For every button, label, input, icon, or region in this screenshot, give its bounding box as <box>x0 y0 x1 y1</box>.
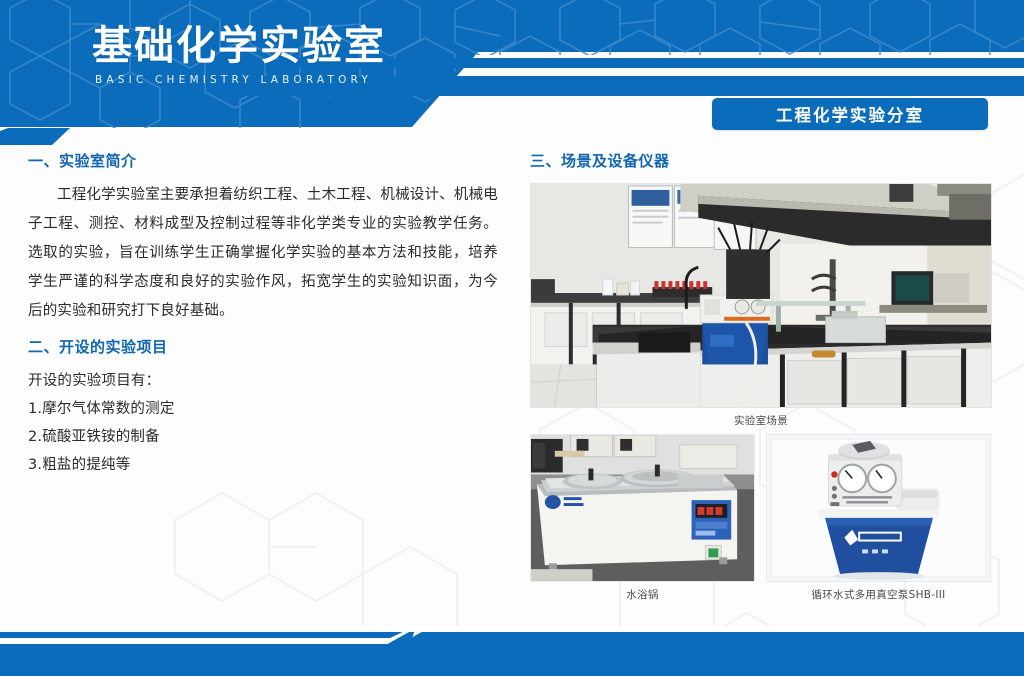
poster-page: 基础化学实验室 BASIC CHEMISTRY LABORATORY 工程化学实… <box>0 0 1024 676</box>
water-bath-caption: 水浴锅 <box>530 585 755 605</box>
water-bath-block: 水浴锅 <box>530 434 755 605</box>
footer-shape <box>0 626 1024 676</box>
section-1-paragraph: 工程化学实验室主要承担着纺织工程、土木工程、机械设计、机械电子工程、测控、材料成… <box>28 181 498 326</box>
left-column: 一、实验室简介 工程化学实验室主要承担着纺织工程、土木工程、机械设计、机械电子工… <box>28 150 498 479</box>
page-footer <box>0 626 1024 676</box>
section-3-heading: 三、场景及设备仪器 <box>530 150 992 172</box>
photo-row: 水浴锅 <box>530 434 992 605</box>
right-column: 三、场景及设备仪器 <box>530 150 992 605</box>
list-item: 2.硫酸亚铁铵的制备 <box>28 423 498 451</box>
page-title: 基础化学实验室 <box>92 22 386 70</box>
list-item: 1.摩尔气体常数的测定 <box>28 395 498 423</box>
section-badge[interactable]: 工程化学实验分室 <box>712 98 988 130</box>
lab-scene-caption: 实验室场景 <box>530 411 992 431</box>
vacuum-pump-caption: 循环水式多用真空泵SHB-III <box>766 585 991 605</box>
header-stripe-3 <box>0 128 70 145</box>
list-item: 3.粗盐的提纯等 <box>28 451 498 479</box>
page-content: 一、实验室简介 工程化学实验室主要承担着纺织工程、土木工程、机械设计、机械电子工… <box>0 145 1024 625</box>
page-subtitle: BASIC CHEMISTRY LABORATORY <box>95 74 386 86</box>
section-2-heading: 二、开设的实验项目 <box>28 336 498 358</box>
vacuum-pump-block: 循环水式多用真空泵SHB-III <box>766 434 991 605</box>
section-1-heading: 一、实验室简介 <box>28 150 498 172</box>
header-title-block: 基础化学实验室 BASIC CHEMISTRY LABORATORY <box>92 22 386 86</box>
vacuum-pump-photo <box>766 434 991 582</box>
lab-scene-photo <box>530 183 992 408</box>
water-bath-photo <box>530 434 755 582</box>
experiment-list-intro: 开设的实验项目有： <box>28 367 498 395</box>
